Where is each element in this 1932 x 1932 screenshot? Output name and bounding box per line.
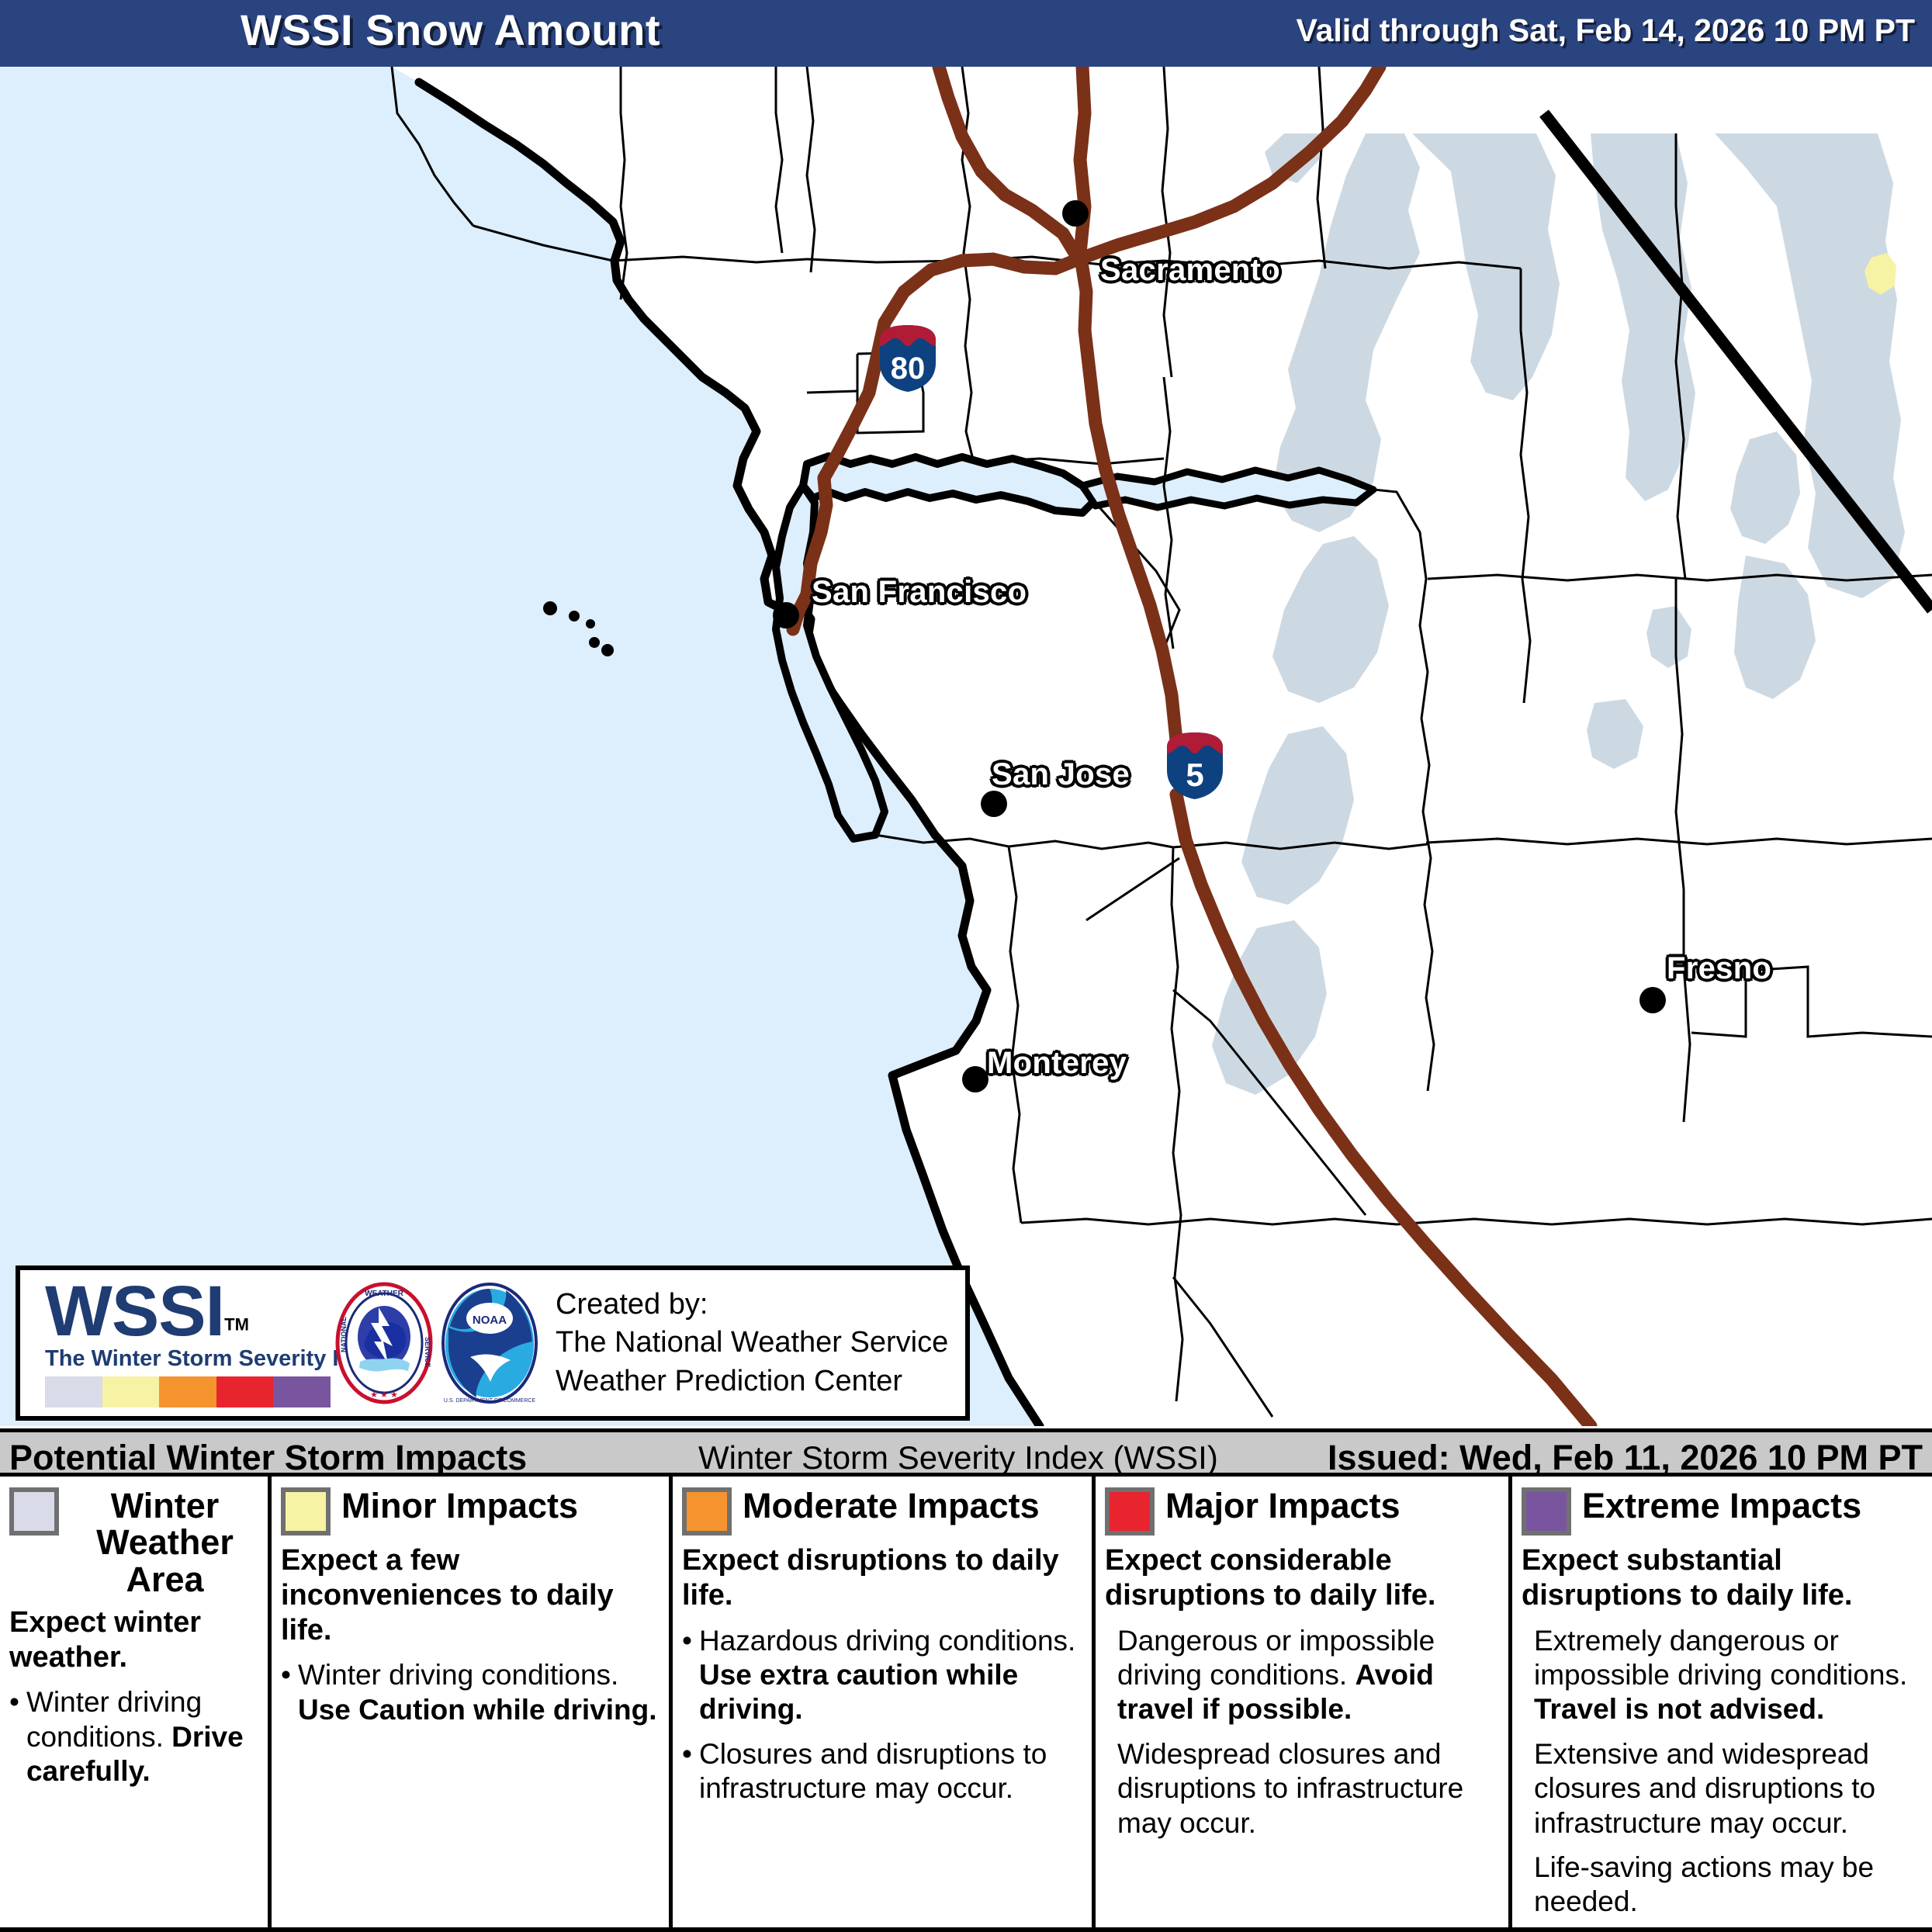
city-dot-monterey [962, 1066, 989, 1092]
city-dot-sacramento [1062, 200, 1089, 227]
city-label-san-francisco: San Francisco [812, 575, 1027, 610]
legend-header: Winter Weather Area [9, 1487, 260, 1598]
swatch-major-impacts [1105, 1487, 1155, 1536]
legend-title-minor-impacts: Minor Impacts [341, 1487, 578, 1524]
svg-text:NOAA: NOAA [473, 1314, 507, 1327]
paragraph-text-plain: Extensive and widespread closures and di… [1534, 1738, 1875, 1839]
agency-seals: WEATHER NATIONAL SERVICE ★ ★ ★ NOAA U.S.… [329, 1281, 545, 1405]
legend-header: Minor Impacts [281, 1487, 661, 1536]
svg-text:WEATHER: WEATHER [365, 1290, 404, 1298]
legend-title-winter-weather-area: Winter Weather Area [70, 1487, 260, 1598]
bullet-text-plain: Hazardous driving conditions. [699, 1625, 1075, 1657]
credit-line-3: Weather Prediction Center [556, 1362, 948, 1401]
swatch-winter-weather-area [9, 1487, 59, 1536]
city-label-fresno: Fresno [1667, 951, 1771, 986]
legend-lead-major-impacts: Expect considerable disruptions to daily… [1105, 1543, 1501, 1613]
svg-text:NATIONAL: NATIONAL [340, 1317, 348, 1352]
map-geometry [0, 67, 1932, 1426]
strip-swatch-major [216, 1376, 274, 1407]
legend-title-extreme-impacts: Extreme Impacts [1582, 1487, 1861, 1524]
noaa-seal-icon: NOAA U.S. DEPARTMENT OF COMMERCE [439, 1281, 540, 1405]
paragraph-text-plain: Widespread closures and disruptions to i… [1117, 1738, 1463, 1839]
legend-title-bar: Potential Winter Storm Impacts Winter St… [0, 1428, 1932, 1477]
legend-body: Expect a few inconveniences to daily lif… [281, 1543, 661, 1727]
legend-bullet: • Closures and disruptions to infrastruc… [682, 1737, 1084, 1806]
legend-bullet: • Winter driving conditions. Drive caref… [9, 1685, 260, 1788]
legend-bullet: • Winter driving conditions. Use Caution… [281, 1658, 661, 1727]
bullet-dot-icon: • [281, 1658, 291, 1727]
legend-header: Major Impacts [1105, 1487, 1501, 1536]
nws-seal-icon: WEATHER NATIONAL SERVICE ★ ★ ★ [334, 1281, 435, 1405]
legend-column-extreme-impacts[interactable]: Extreme Impacts Expect substantial disru… [1508, 1477, 1932, 1927]
bullet-dot-icon: • [682, 1624, 692, 1727]
paragraph-text-plain: Extremely dangerous or impossible drivin… [1534, 1625, 1907, 1691]
svg-text:SERVICE: SERVICE [424, 1337, 431, 1367]
trademark-symbol: TM [224, 1315, 249, 1335]
page-title: WSSI Snow Amount [241, 5, 660, 55]
bullet-text-plain: Closures and disruptions to infrastructu… [699, 1737, 1084, 1806]
legend-body: Expect considerable disruptions to daily… [1105, 1543, 1501, 1840]
legend-body: Expect substantial disruptions to daily … [1522, 1543, 1924, 1920]
legend-column-minor-impacts[interactable]: Minor Impacts Expect a few inconvenience… [268, 1477, 669, 1927]
swatch-extreme-impacts [1522, 1487, 1571, 1536]
legend-lead-moderate-impacts: Expect disruptions to daily life. [682, 1543, 1084, 1613]
credit-line-1: Created by: [556, 1286, 948, 1324]
legend-columns: Winter Weather Area Expect winter weathe… [0, 1477, 1932, 1932]
city-dot-san-jose [981, 791, 1007, 817]
legend-body: Expect winter weather. • Winter driving … [9, 1605, 260, 1789]
bullet-text-bold: Use Caution while driving. [298, 1694, 657, 1726]
legend-body: Expect disruptions to daily life. • Haza… [682, 1543, 1084, 1806]
legend-title-moderate-impacts: Moderate Impacts [743, 1487, 1040, 1524]
legend-paragraph: Widespread closures and disruptions to i… [1117, 1737, 1501, 1840]
wssi-logo-box: WSSITM The Winter Storm Severity Index [16, 1265, 970, 1421]
city-dot-san-francisco [773, 602, 799, 628]
strip-swatch-extreme [273, 1376, 331, 1407]
bullet-dot-icon: • [9, 1685, 19, 1788]
bullet-dot-icon: • [682, 1737, 692, 1806]
svg-text:U.S. DEPARTMENT OF COMMERCE: U.S. DEPARTMENT OF COMMERCE [444, 1398, 536, 1404]
wssi-brand: WSSITM The Winter Storm Severity Index [20, 1279, 329, 1407]
legend-header: Moderate Impacts [682, 1487, 1084, 1536]
shield-number-80: 80 [891, 351, 926, 386]
wssi-snow-amount-graphic: WSSI Snow Amount Valid through Sat, Feb … [0, 0, 1932, 1932]
strip-swatch-minor [102, 1376, 160, 1407]
legend-lead-winter-weather-area: Expect winter weather. [9, 1605, 260, 1675]
svg-text:★ ★ ★: ★ ★ ★ [370, 1390, 398, 1400]
swatch-minor-impacts [281, 1487, 331, 1536]
city-label-san-jose: San Jose [992, 757, 1130, 792]
paragraph-text-plain: Life-saving actions may be needed. [1534, 1851, 1874, 1917]
legend-column-major-impacts[interactable]: Major Impacts Expect considerable disrup… [1092, 1477, 1508, 1927]
map-canvas[interactable]: Sacramento San Francisco San Jose Fresno… [0, 67, 1932, 1426]
legend-title-major-impacts: Major Impacts [1165, 1487, 1401, 1524]
bullet-text-bold: Use extra caution while driving. [699, 1659, 1018, 1725]
header-bar: WSSI Snow Amount Valid through Sat, Feb … [0, 0, 1932, 67]
legend-bar-left-label: Potential Winter Storm Impacts [9, 1438, 527, 1478]
legend-header: Extreme Impacts [1522, 1487, 1924, 1536]
shield-number-5: 5 [1186, 757, 1203, 793]
wssi-wordmark: WSSI [45, 1279, 224, 1345]
valid-through-text: Valid through Sat, Feb 14, 2026 10 PM PT [1297, 12, 1915, 49]
legend-bullet: • Hazardous driving conditions. Use extr… [682, 1624, 1084, 1727]
legend-paragraph: Life-saving actions may be needed. [1534, 1851, 1924, 1920]
city-dot-fresno [1639, 987, 1666, 1013]
legend-paragraph: Dangerous or impossible driving conditio… [1117, 1624, 1501, 1727]
legend-column-winter-weather-area[interactable]: Winter Weather Area Expect winter weathe… [0, 1477, 268, 1927]
interstate-shield-80: 80 [877, 323, 939, 394]
legend-lead-minor-impacts: Expect a few inconveniences to daily lif… [281, 1543, 661, 1647]
wssi-color-strip [45, 1376, 331, 1407]
credit-block: Created by: The National Weather Service… [545, 1286, 948, 1401]
city-label-monterey: Monterey [987, 1046, 1127, 1081]
legend-paragraph: Extensive and widespread closures and di… [1534, 1737, 1924, 1840]
legend-column-moderate-impacts[interactable]: Moderate Impacts Expect disruptions to d… [669, 1477, 1092, 1927]
swatch-moderate-impacts [682, 1487, 732, 1536]
interstate-shield-5: 5 [1164, 730, 1226, 802]
paragraph-text-bold: Travel is not advised. [1534, 1693, 1824, 1725]
legend-bar-middle-label: Winter Storm Severity Index (WSSI) [698, 1439, 1218, 1477]
city-label-sacramento: Sacramento [1100, 253, 1280, 288]
strip-swatch-moderate [159, 1376, 216, 1407]
legend-bar-issued-label: Issued: Wed, Feb 11, 2026 10 PM PT [1328, 1438, 1923, 1478]
strip-swatch-winter-weather [45, 1376, 102, 1407]
legend-lead-extreme-impacts: Expect substantial disruptions to daily … [1522, 1543, 1924, 1613]
bullet-text-plain: Winter driving conditions. [298, 1659, 618, 1691]
legend-paragraph: Extremely dangerous or impossible drivin… [1534, 1624, 1924, 1727]
credit-line-2: The National Weather Service [556, 1324, 948, 1362]
